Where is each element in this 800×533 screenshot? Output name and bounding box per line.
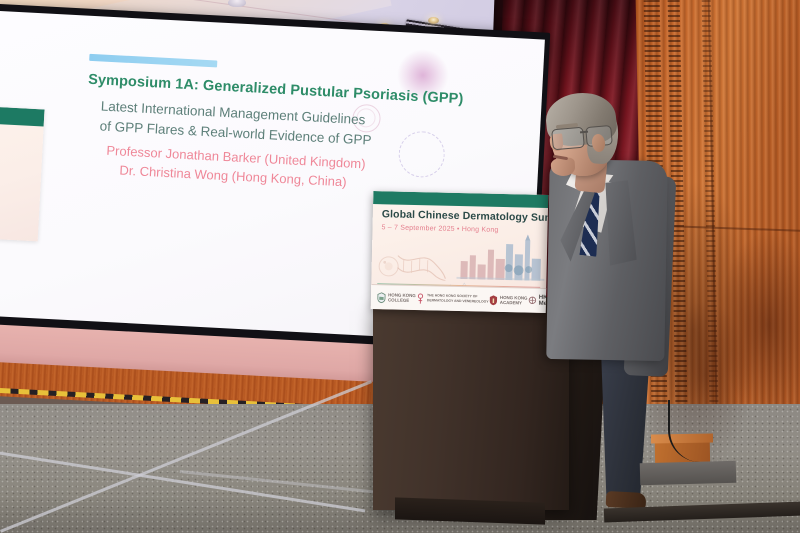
sponsor-logo-dermatology-society: THE HONG KONG SOCIETY OF DERMATOLOGY AND… xyxy=(416,293,489,306)
conference-photo-scene: ology Summit Hong Kong xyxy=(0,0,800,533)
podium-body xyxy=(373,305,569,510)
sponsor-logo-hku-med: HKU Med xyxy=(528,294,549,307)
left-panel-logo-row: HKU Med xyxy=(0,206,45,236)
screen-left-partial-panel: ology Summit Hong Kong xyxy=(0,102,45,242)
dermatology-society-text: THE HONG KONG SOCIETY OF DERMATOLOGY AND… xyxy=(427,293,489,304)
sign-logo-row: HONG KONG COLLEGE THE HONG KONG SOCIETY … xyxy=(371,284,549,313)
left-panel-top-band xyxy=(0,102,45,127)
university-crest-icon xyxy=(377,292,386,303)
dna-helix-icon xyxy=(395,254,448,281)
watermark-ring xyxy=(398,130,446,178)
slide-accent-bar xyxy=(89,54,217,68)
sponsor-logo-academy-crest: HONG KONG ACADEMY xyxy=(489,294,528,306)
sign-top-band xyxy=(373,191,548,208)
university-crest-text: HONG KONG COLLEGE xyxy=(388,292,416,303)
cell-illustration-icon xyxy=(377,255,399,277)
academy-crest-icon xyxy=(489,294,498,305)
speaker-eyeglasses-left-lens xyxy=(551,127,585,151)
slide-speaker-names: Professor Jonathan Barker (United Kingdo… xyxy=(105,141,366,193)
dermatology-society-icon xyxy=(416,293,425,304)
ceiling-speaker-dome xyxy=(228,0,246,7)
hku-seal-icon xyxy=(528,295,537,306)
floor-platform-slab xyxy=(640,461,737,486)
sign-title: Global Chinese Dermatology Summit xyxy=(382,208,549,224)
academy-crest-text: HONG KONG ACADEMY xyxy=(500,295,528,306)
podium-sign: Global Chinese Dermatology Summit 5 – 7 … xyxy=(371,191,549,313)
hong-kong-skyline-icon xyxy=(456,231,545,281)
ceiling-downlight-4 xyxy=(428,17,439,24)
sponsor-logo-university-crest: HONG KONG COLLEGE xyxy=(377,292,416,304)
